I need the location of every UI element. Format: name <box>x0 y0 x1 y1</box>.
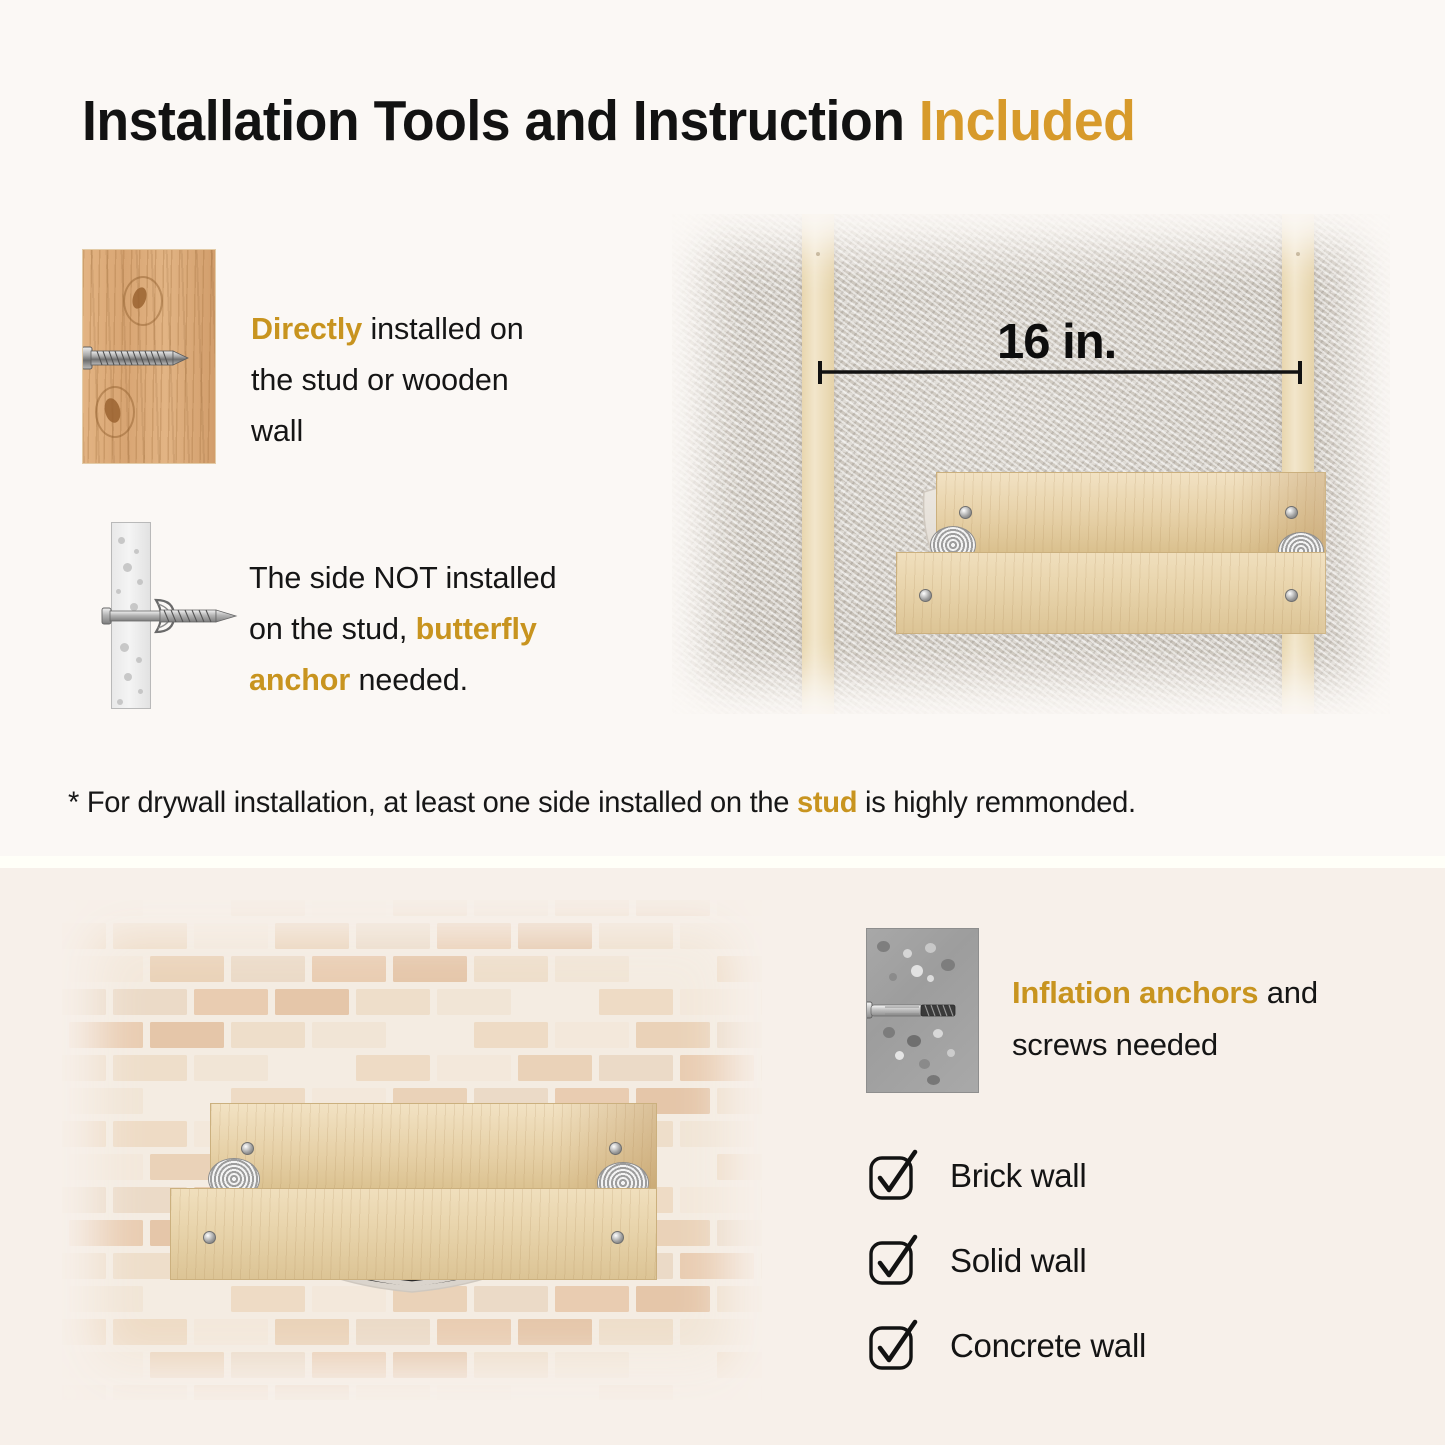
footnote-part2: is highly remmonded. <box>857 786 1136 819</box>
concrete-block-expansion-anchor-icon <box>866 928 979 1093</box>
anchor-note-highlight: Inflation anchors <box>1012 975 1258 1010</box>
footnote-part1: * For drywall installation, at least one… <box>68 786 797 819</box>
feature-1-line1: installed on <box>362 312 523 346</box>
butterfly-anchor-icon <box>96 570 246 660</box>
list-item[interactable]: Concrete wall <box>868 1303 1368 1388</box>
feature-text-butterfly-anchor: The side NOT installed on the stud, butt… <box>249 553 659 706</box>
hammock-front-plank <box>896 552 1326 634</box>
feature-2-line2-plain: on the stud, <box>249 612 416 646</box>
expansion-anchor-icon <box>866 929 966 1092</box>
hammock-front-plank <box>170 1188 657 1280</box>
feature-text-direct-stud: Directly installed on the stud or wooden… <box>251 304 651 457</box>
screw-icon <box>82 250 201 463</box>
wall-type-checklist: Brick wall Solid wall <box>868 1133 1368 1388</box>
feature-2-line3-rest: needed. <box>350 663 468 697</box>
anchor-note-line2: screws needed <box>1012 1027 1218 1062</box>
wood-stud-with-screw-icon <box>82 249 216 464</box>
infographic-page: Installation Tools and Instruction Inclu… <box>0 0 1445 1445</box>
wall-type-label: Solid wall <box>950 1244 1086 1277</box>
cat-hammock-on-brick-wall-photo <box>62 900 762 1400</box>
hammock-back-plank <box>936 472 1326 556</box>
feature-2-highlight-a: butterfly <box>416 612 537 646</box>
footnote: * For drywall installation, at least one… <box>68 786 1339 820</box>
checkmark-icon[interactable] <box>868 1234 921 1287</box>
feature-2-line1: The side NOT installed <box>249 561 556 595</box>
bottom-section: Inflation anchors and screws needed Bric… <box>0 868 1445 1445</box>
hammock-back-plank <box>210 1103 657 1197</box>
feature-1-line2: the stud or wooden <box>251 363 509 397</box>
wall-type-label: Concrete wall <box>950 1329 1146 1362</box>
page-title-plain: Installation Tools and Instruction <box>82 89 919 153</box>
cat-hammock-on-studded-fur-wall-photo: 16 in. <box>672 214 1390 714</box>
page-title-highlight: Included <box>919 89 1136 153</box>
feature-1-line3: wall <box>251 414 303 448</box>
feature-1-highlight: Directly <box>251 312 362 346</box>
list-item[interactable]: Brick wall <box>868 1133 1368 1218</box>
footnote-highlight: stud <box>797 786 857 819</box>
anchor-note-text: Inflation anchors and screws needed <box>1012 967 1412 1071</box>
section-divider <box>0 856 1445 868</box>
wall-type-label: Brick wall <box>950 1159 1086 1192</box>
hammock-sling <box>672 214 1390 714</box>
page-title: Installation Tools and Instruction Inclu… <box>82 88 1304 154</box>
checkmark-icon[interactable] <box>868 1319 921 1372</box>
anchor-note-line1-rest: and <box>1258 975 1318 1010</box>
list-item[interactable]: Solid wall <box>868 1218 1368 1303</box>
top-section: Installation Tools and Instruction Inclu… <box>0 0 1445 858</box>
feature-2-highlight-b: anchor <box>249 663 350 697</box>
checkmark-icon[interactable] <box>868 1149 921 1202</box>
